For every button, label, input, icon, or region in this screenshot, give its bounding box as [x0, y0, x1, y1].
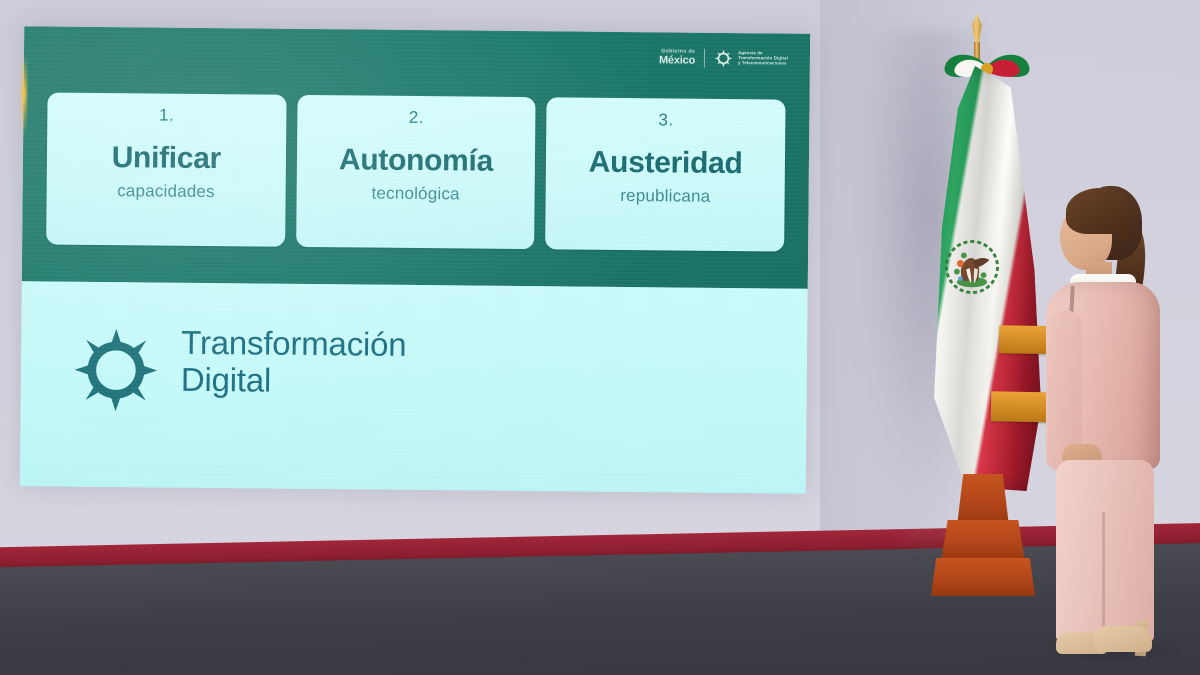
agency-line-3: y Telecomunicaciones — [738, 61, 788, 66]
card-austeridad: 3. Austeridad republicana — [545, 97, 785, 251]
screenshot-stage: Gobierno de México — [0, 0, 1200, 675]
logo-divider — [704, 49, 705, 68]
card-number: 3. — [658, 110, 673, 130]
card-subtitle: capacidades — [117, 181, 215, 202]
gobierno-de-mexico-logo: Gobierno de México — [659, 49, 695, 67]
screen-edge-glow — [21, 54, 27, 134]
brand-text: Transformación Digital — [181, 324, 407, 401]
speaker-standing — [1032, 182, 1182, 660]
hair-front — [1066, 188, 1132, 234]
trousers — [1056, 460, 1154, 642]
card-autonomia: 2. Autonomía tecnológica — [296, 95, 536, 249]
card-title: Unificar — [112, 143, 222, 174]
flag-base-pedestal — [929, 474, 1033, 596]
hair-tie — [1116, 230, 1133, 239]
principles-card-row: 1. Unificar capacidades 2. Autonomía tec… — [46, 92, 785, 251]
trouser-seam — [1102, 512, 1105, 640]
card-subtitle: republicana — [620, 186, 710, 207]
card-title: Autonomía — [339, 145, 493, 176]
brand-line-1: Transformación — [181, 324, 407, 363]
sun-ring-icon — [714, 49, 733, 68]
base-step-middle — [941, 520, 1025, 562]
card-unificar: 1. Unificar capacidades — [46, 92, 286, 246]
agency-logo: Agencia de Transformación Digital y Tele… — [714, 49, 788, 69]
card-number: 2. — [409, 108, 424, 128]
base-step-top — [957, 474, 1009, 526]
gob-big-text: México — [659, 55, 695, 66]
shoe-right — [1094, 626, 1152, 652]
card-subtitle: tecnológica — [371, 184, 459, 205]
sun-ring-icon — [73, 327, 160, 414]
transformacion-digital-brand: Transformación Digital — [73, 323, 407, 416]
projected-slide: Gobierno de México — [20, 26, 810, 494]
slide-header-logos: Gobierno de México — [659, 48, 788, 68]
agency-logo-text: Agencia de Transformación Digital y Tele… — [738, 51, 788, 66]
base-step-bottom — [931, 558, 1035, 596]
gob-small-text: Gobierno de — [661, 49, 695, 55]
brand-line-2: Digital — [181, 361, 407, 400]
card-title: Austeridad — [589, 148, 743, 179]
card-number: 1. — [159, 106, 174, 126]
coat-of-arms-icon — [943, 238, 1001, 296]
